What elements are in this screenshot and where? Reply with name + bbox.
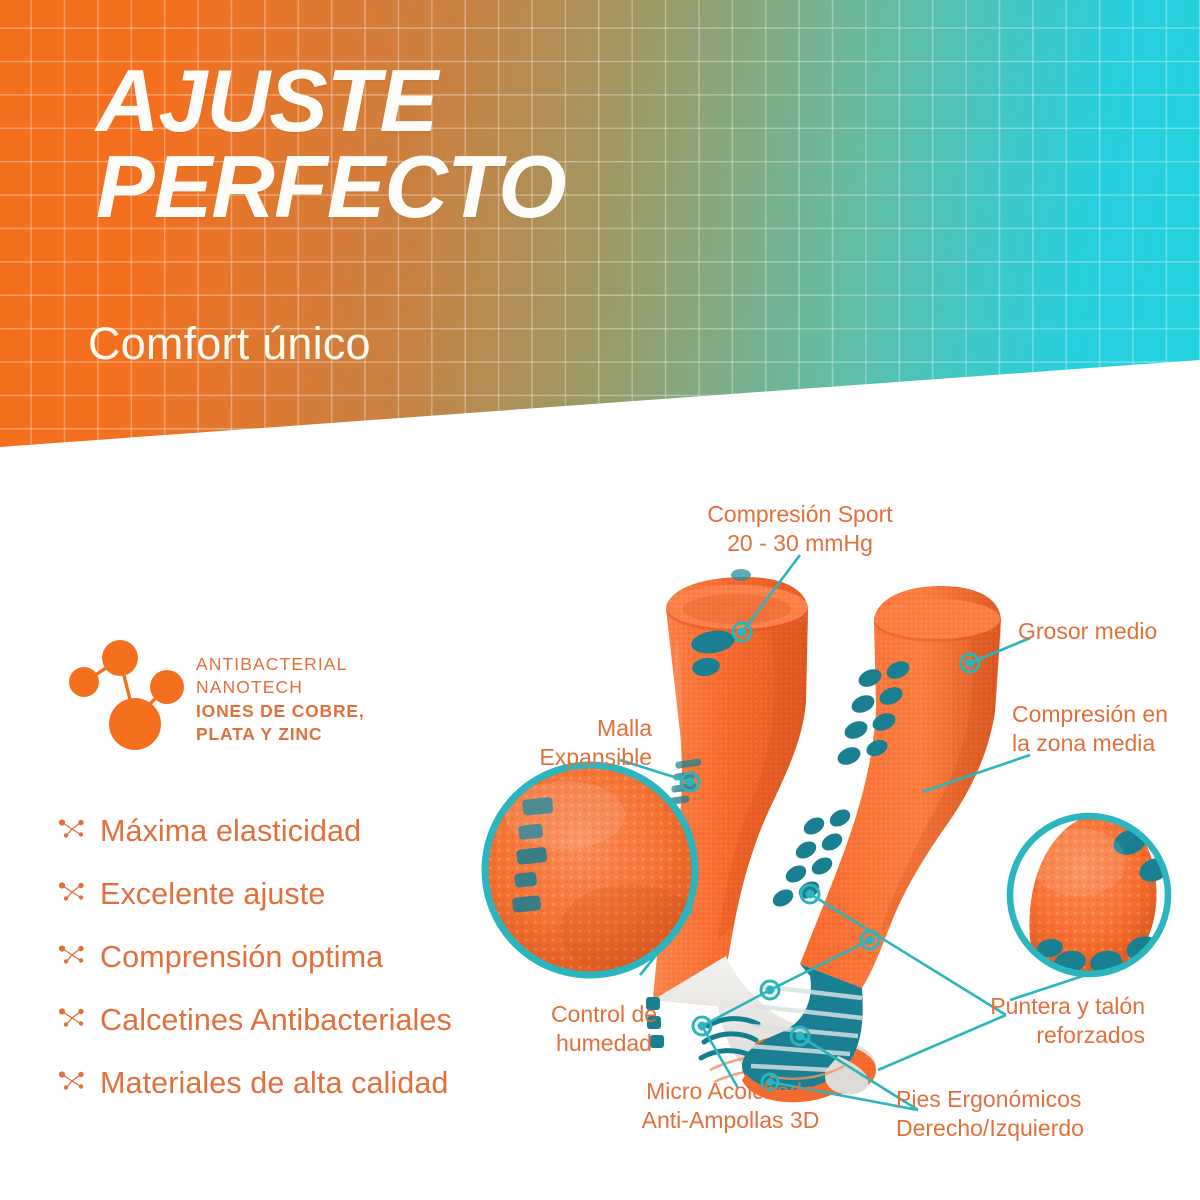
- feature-label: Máxima elasticidad: [100, 814, 361, 849]
- magnifier-heel: [1010, 813, 1172, 977]
- callout-micro-acolchado: Micro Acolchado Anti-Ampollas 3D: [628, 1077, 833, 1135]
- brand-line-2: NANOTECH: [196, 676, 365, 699]
- molecule-bullet-icon: [58, 1008, 100, 1034]
- callout-pies-ergonomicos: Pies Ergonómicos Derecho/Izquierdo: [896, 1085, 1116, 1143]
- callout-puntera-talon: Puntera y talón reforzados: [955, 992, 1145, 1050]
- brand-line-4: PLATA Y ZINC: [196, 723, 365, 746]
- callout-control-humedad: Control de humedad: [524, 1000, 684, 1058]
- feature-list: Máxima elasticidad Excelente ajuste: [58, 800, 528, 1115]
- feature-label: Calcetines Antibacteriales: [100, 1003, 452, 1038]
- molecule-bullet-icon: [58, 819, 100, 845]
- sock-left-front: [653, 569, 808, 1006]
- list-item: Comprensión optima: [58, 926, 528, 989]
- page-subtitle: Comfort único: [88, 318, 371, 370]
- molecule-bullet-icon: [58, 882, 100, 908]
- list-item: Máxima elasticidad: [58, 800, 528, 863]
- magnifier-knit-mesh: [485, 765, 700, 976]
- brand-text: ANTIBACTERIAL NANOTECH IONES DE COBRE, P…: [196, 653, 365, 746]
- feature-label: Excelente ajuste: [100, 877, 325, 912]
- callout-malla-expansible: Malla Expansible: [482, 714, 652, 772]
- list-item: Materiales de alta calidad: [58, 1052, 528, 1115]
- feature-label: Comprensión optima: [100, 940, 383, 975]
- feature-label: Materiales de alta calidad: [100, 1066, 448, 1101]
- brand-line-1: ANTIBACTERIAL: [196, 653, 365, 676]
- product-illustration: [470, 470, 1200, 1190]
- callout-compresion-zona-media: Compresión en la zona media: [1012, 700, 1197, 758]
- molecule-bullet-icon: [58, 945, 100, 971]
- list-item: Calcetines Antibacteriales: [58, 989, 528, 1052]
- infographic-page: AJUSTE PERFECTO Comfort único ANTIBACTER…: [0, 0, 1200, 1200]
- page-title: AJUSTE PERFECTO: [96, 58, 566, 230]
- list-item: Excelente ajuste: [58, 863, 528, 926]
- molecule-bullet-icon: [58, 1071, 100, 1097]
- callout-grosor-medio: Grosor medio: [1018, 617, 1193, 646]
- molecule-nodes-icon: [62, 638, 190, 754]
- brand-line-3: IONES DE COBRE,: [196, 700, 365, 723]
- callout-compresion-sport: Compresión Sport 20 - 30 mmHg: [700, 500, 900, 558]
- brand-logo-block: ANTIBACTERIAL NANOTECH IONES DE COBRE, P…: [62, 636, 462, 756]
